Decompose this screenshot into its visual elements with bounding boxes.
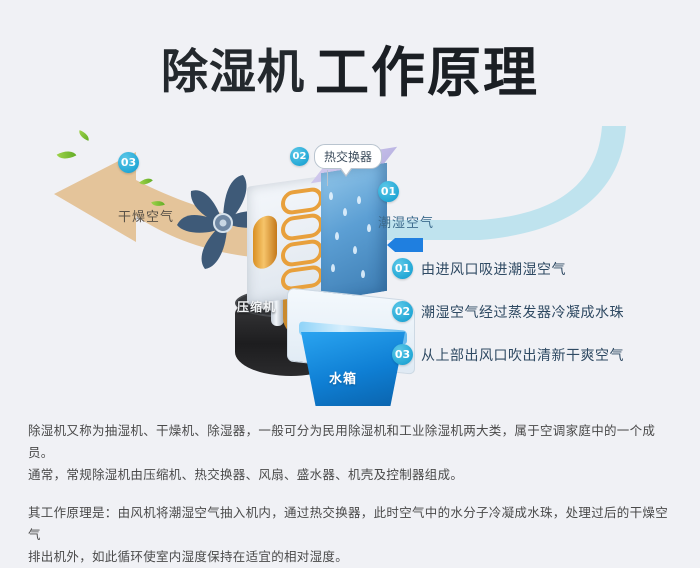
paragraph-1: 除湿机又称为抽湿机、干燥机、除湿器，一般可分为民用除湿机和工业除湿机两大类，属于… — [28, 420, 678, 486]
water-droplet-icon — [343, 208, 347, 216]
list-item-label: 潮湿空气经过蒸发器冷凝成水珠 — [421, 302, 624, 322]
badge-03: 03 — [392, 344, 413, 365]
condenser-coil — [281, 212, 323, 242]
air-inlet-arrow-icon — [387, 238, 423, 252]
page-title: 除湿机工作原理 — [0, 28, 700, 107]
humid-air-label: 潮湿空气 — [378, 212, 434, 231]
page-title-secondary: 工作原理 — [315, 41, 539, 104]
condenser-coil — [281, 186, 323, 216]
compressor-label: 压缩机 — [237, 298, 276, 315]
list-item-label: 从上部出风口吹出清新干爽空气 — [421, 345, 624, 365]
badge-03: 03 — [118, 152, 139, 173]
badge-01: 01 — [378, 181, 399, 202]
paragraph-1-line-2: 通常，常规除湿机由压缩机、热交换器、风扇、盛水器、机壳及控制器组成。 — [28, 467, 463, 482]
list-item: 03 从上部出风口吹出清新干爽空气 — [392, 344, 682, 365]
water-droplet-icon — [335, 232, 339, 240]
badge-02: 02 — [290, 147, 309, 166]
dry-air-label: 干燥空气 — [118, 206, 174, 225]
condenser-coil — [281, 238, 323, 268]
callout-heat-exchanger: 02 热交换器 — [290, 144, 382, 169]
water-tank-label: 水箱 — [329, 368, 357, 387]
badge-02: 02 — [392, 301, 413, 322]
paragraph-1-line-1: 除湿机又称为抽湿机、干燥机、除湿器，一般可分为民用除湿机和工业除湿机两大类，属于… — [28, 423, 655, 460]
page-title-primary: 除湿机 — [161, 45, 305, 100]
condenser-coil — [281, 264, 323, 292]
water-droplet-icon — [353, 246, 357, 254]
description-text: 除湿机又称为抽湿机、干燥机、除湿器，一般可分为民用除湿机和工业除湿机两大类，属于… — [28, 420, 678, 568]
paragraph-2: 其工作原理是：由风机将潮湿空气抽入机内，通过热交换器，此时空气中的水分子冷凝成水… — [28, 502, 678, 568]
paragraph-2-line-1: 其工作原理是：由风机将潮湿空气抽入机内，通过热交换器，此时空气中的水分子冷凝成水… — [28, 505, 668, 542]
water-droplet-icon — [361, 270, 365, 278]
callout-dry-air: 03 — [118, 152, 139, 173]
water-droplet-icon — [357, 196, 361, 204]
process-step-list: 01 由进风口吸进潮湿空气 02 潮湿空气经过蒸发器冷凝成水珠 03 从上部出风… — [392, 258, 682, 387]
paragraph-2-line-2: 排出机外，如此循环使室内湿度保持在适宜的相对湿度。 — [28, 549, 348, 564]
badge-01: 01 — [392, 258, 413, 279]
water-droplet-icon — [331, 264, 335, 272]
water-droplet-icon — [329, 192, 333, 200]
heat-exchanger-bubble: 热交换器 — [314, 144, 382, 169]
callout-humid-air: 01 — [378, 181, 399, 202]
bubble-stem — [327, 170, 328, 186]
compressor-cylinder — [253, 213, 277, 272]
list-item: 01 由进风口吸进潮湿空气 — [392, 258, 682, 279]
water-droplet-icon — [367, 224, 371, 232]
leaf-icon — [77, 130, 91, 141]
list-item-label: 由进风口吸进潮湿空气 — [421, 259, 566, 279]
list-item: 02 潮湿空气经过蒸发器冷凝成水珠 — [392, 301, 682, 322]
